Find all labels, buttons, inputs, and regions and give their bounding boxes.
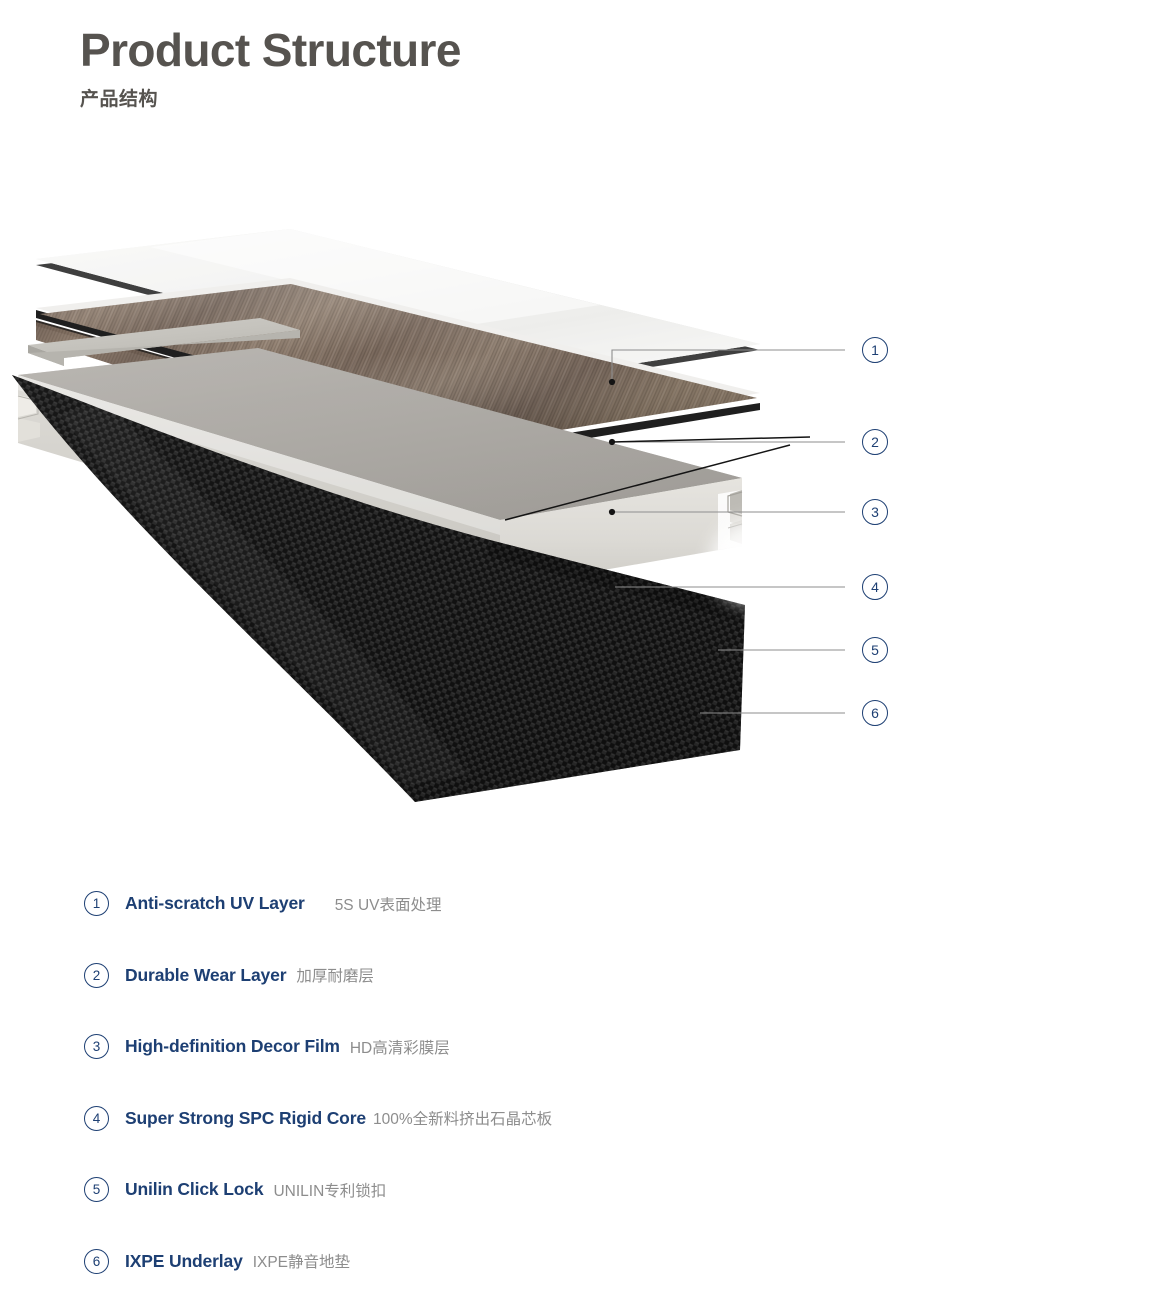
legend-item-1[interactable]: 1 Anti-scratch UV Layer 5S UV表面处理: [84, 868, 984, 940]
legend-item-5[interactable]: 5 Unilin Click Lock UNILIN专利锁扣: [84, 1154, 984, 1226]
callout-badge-group: 1 2 3 4 5 6: [0, 190, 960, 840]
legend-label-zh-5: UNILIN专利锁扣: [273, 1179, 386, 1201]
page-title: Product Structure: [80, 26, 461, 74]
legend-label-en-2: Durable Wear Layer: [125, 965, 286, 986]
callout-badge-5[interactable]: 5: [862, 637, 888, 663]
page-subtitle-chinese: 产品结构: [80, 84, 461, 111]
legend-badge-5: 5: [84, 1177, 109, 1202]
callout-badge-6[interactable]: 6: [862, 700, 888, 726]
legend-badge-4: 4: [84, 1106, 109, 1131]
structure-legend: 1 Anti-scratch UV Layer 5S UV表面处理 2 Dura…: [84, 868, 984, 1297]
legend-item-2[interactable]: 2 Durable Wear Layer 加厚耐磨层: [84, 940, 984, 1012]
legend-label-zh-3: HD高清彩膜层: [350, 1036, 450, 1058]
legend-label-en-6: IXPE Underlay: [125, 1251, 243, 1272]
legend-badge-1: 1: [84, 891, 109, 916]
legend-label-en-4: Super Strong SPC Rigid Core: [125, 1108, 366, 1129]
legend-badge-2: 2: [84, 963, 109, 988]
page-header: Product Structure 产品结构: [80, 26, 461, 111]
legend-badge-3: 3: [84, 1034, 109, 1059]
legend-item-3[interactable]: 3 High-definition Decor Film HD高清彩膜层: [84, 1011, 984, 1083]
legend-badge-6: 6: [84, 1249, 109, 1274]
callout-badge-2[interactable]: 2: [862, 429, 888, 455]
callout-badge-4[interactable]: 4: [862, 574, 888, 600]
legend-label-zh-2: 加厚耐磨层: [296, 964, 374, 986]
legend-label-en-3: High-definition Decor Film: [125, 1036, 340, 1057]
legend-label-zh-1: 5S UV表面处理: [335, 893, 442, 915]
legend-item-4[interactable]: 4 Super Strong SPC Rigid Core 100%全新料挤出石…: [84, 1083, 984, 1155]
legend-label-zh-4: 100%全新料挤出石晶芯板: [373, 1107, 552, 1129]
legend-item-6[interactable]: 6 IXPE Underlay IXPE静音地垫: [84, 1226, 984, 1297]
callout-badge-3[interactable]: 3: [862, 499, 888, 525]
legend-label-zh-6: IXPE静音地垫: [253, 1250, 350, 1272]
legend-label-en-1: Anti-scratch UV Layer: [125, 893, 305, 914]
callout-badge-1[interactable]: 1: [862, 337, 888, 363]
legend-label-en-5: Unilin Click Lock: [125, 1179, 263, 1200]
